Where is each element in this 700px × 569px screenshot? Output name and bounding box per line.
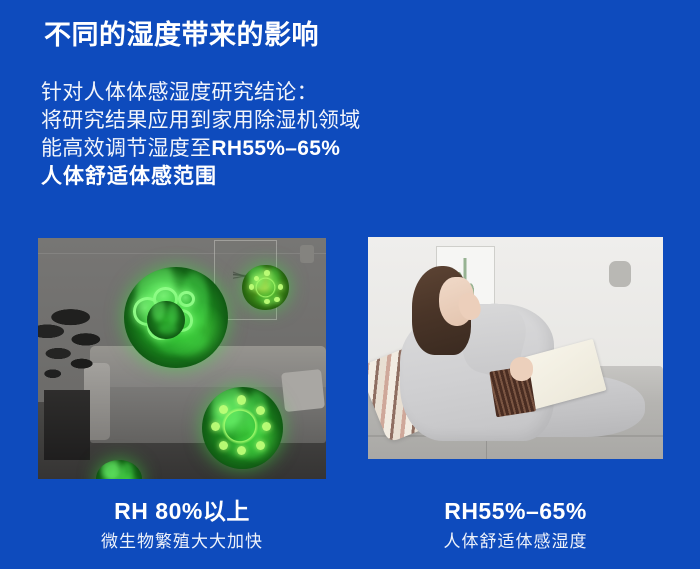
microbe-sphere-bottom — [202, 387, 283, 469]
page-title: 不同的湿度带来的影响 — [44, 19, 319, 53]
photo-high-humidity — [38, 238, 326, 479]
photo-comfort-humidity — [368, 237, 663, 459]
intro-line-1: 针对人体体感湿度研究结论： — [41, 79, 361, 107]
microbe-sphere-corner — [96, 460, 142, 479]
caption-sub-right: 人体舒适体感湿度 — [368, 531, 663, 553]
microbe-spike-ring — [215, 401, 265, 452]
caption-comfort-humidity: RH55%–65% 人体舒适体感湿度 — [368, 497, 663, 553]
caption-sub-left: 微生物繁殖大大加快 — [38, 531, 326, 553]
caption-high-humidity: RH 80%以上 微生物繁殖大大加快 — [38, 497, 326, 553]
caption-main-left: RH 80%以上 — [38, 497, 326, 525]
dark-wall-molding — [38, 253, 326, 254]
intro-line-3-highlight: RH55%–65% — [211, 137, 340, 160]
microbe-sphere-small-top — [242, 265, 288, 311]
intro-line-2: 将研究结果应用到家用除湿机领域 — [41, 107, 361, 135]
intro-line-3-prefix: 能高效调节湿度至 — [41, 137, 211, 160]
intro-paragraph: 针对人体体感湿度研究结论： 将研究结果应用到家用除湿机领域 能高效调节湿度至RH… — [41, 79, 361, 191]
bright-room-scene — [368, 237, 663, 459]
caption-main-right: RH55%–65% — [368, 497, 663, 525]
woman-hand-on-book — [510, 357, 534, 381]
poster-root: 不同的湿度带来的影响 针对人体体感湿度研究结论： 将研究结果应用到家用除湿机领域… — [0, 0, 700, 569]
plant-leaves-dark — [38, 301, 101, 402]
wall-speaker-dark — [300, 245, 314, 263]
intro-line-4: 人体舒适体感范围 — [41, 163, 361, 191]
sofa-cushion-dark — [281, 369, 325, 412]
dark-room-scene — [38, 238, 326, 479]
microbe-spike-ring — [251, 273, 280, 302]
wall-speaker-bright — [609, 261, 631, 287]
microbe-sphere-inner — [147, 301, 184, 340]
intro-line-3: 能高效调节湿度至RH55%–65% — [41, 135, 361, 163]
